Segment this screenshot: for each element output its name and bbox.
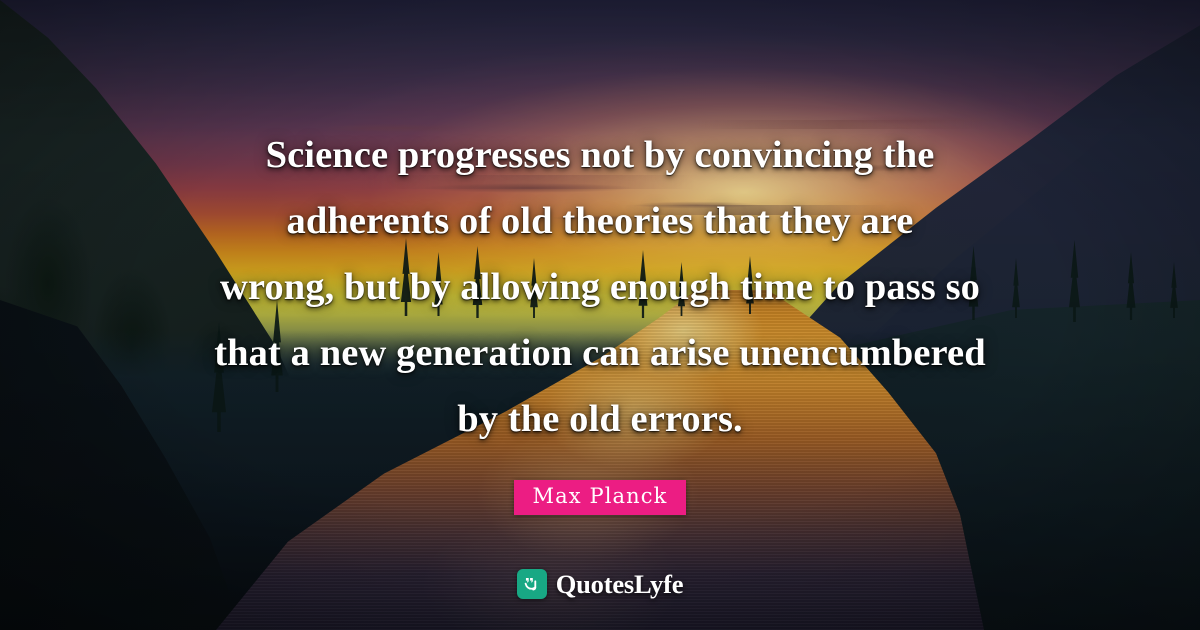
author-badge[interactable]: Max Planck xyxy=(514,480,687,515)
quote-smiley-icon xyxy=(517,569,547,599)
quote-line: Science progresses not by convincing the xyxy=(160,122,1040,188)
quote-line: that a new generation can arise unencumb… xyxy=(160,320,1040,386)
card-content: Science progresses not by convincing the… xyxy=(0,0,1200,630)
quote-card: Science progresses not by convincing the… xyxy=(0,0,1200,630)
quote-line: wrong, but by allowing enough time to pa… xyxy=(160,254,1040,320)
author-attribution: Max Planck xyxy=(514,480,687,515)
quoteslyfe-logo[interactable]: QuotesLyfe xyxy=(517,569,684,600)
brand-name: QuotesLyfe xyxy=(556,569,684,600)
quote-line: by the old errors. xyxy=(160,386,1040,452)
quote-text: Science progresses not by convincing the… xyxy=(160,122,1040,452)
quote-line: adherents of old theories that they are xyxy=(160,188,1040,254)
